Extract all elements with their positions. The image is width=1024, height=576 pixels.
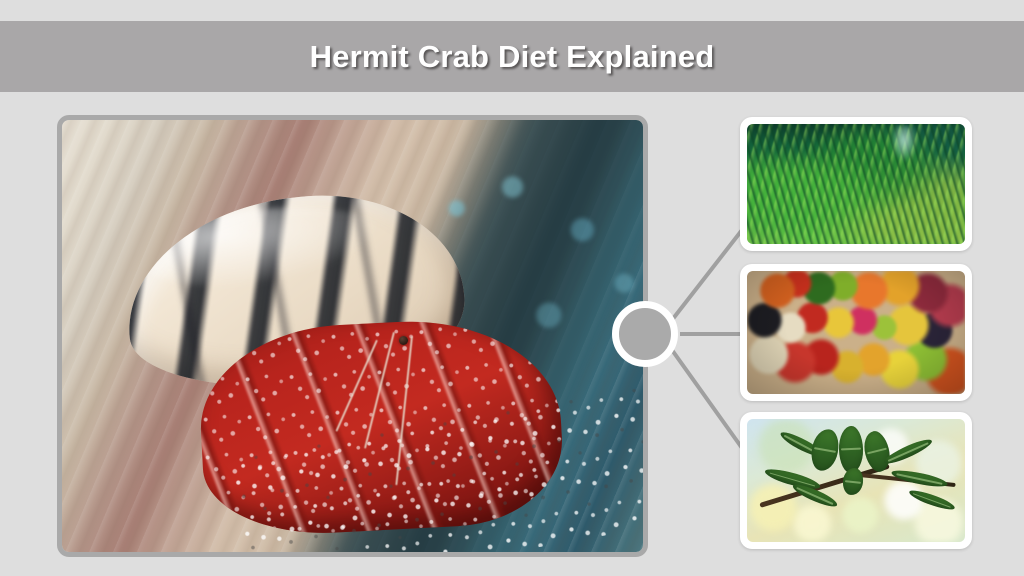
thumbnail-produce-image bbox=[747, 271, 965, 394]
thumbnail-produce[interactable] bbox=[740, 264, 972, 401]
page-title: Hermit Crab Diet Explained bbox=[0, 21, 1024, 92]
algae-strands bbox=[747, 124, 965, 244]
thumbnail-leaves-image bbox=[747, 419, 965, 542]
connector-to-leaves bbox=[672, 350, 742, 448]
hermit-crab-photo bbox=[62, 120, 643, 552]
center-hub[interactable] bbox=[612, 301, 678, 367]
slide-root: Hermit Crab Diet Explained bbox=[0, 0, 1024, 576]
thumbnail-algae-image bbox=[747, 124, 965, 244]
thumbnail-leaves[interactable] bbox=[740, 412, 972, 549]
thumbnail-algae[interactable] bbox=[740, 117, 972, 251]
hero-image-frame[interactable] bbox=[57, 115, 648, 557]
title-banner: Hermit Crab Diet Explained bbox=[0, 21, 1024, 92]
produce-vignette bbox=[747, 271, 965, 394]
crab-eye bbox=[399, 336, 408, 345]
connector-to-algae bbox=[672, 230, 742, 320]
water-shimmer bbox=[891, 126, 917, 162]
